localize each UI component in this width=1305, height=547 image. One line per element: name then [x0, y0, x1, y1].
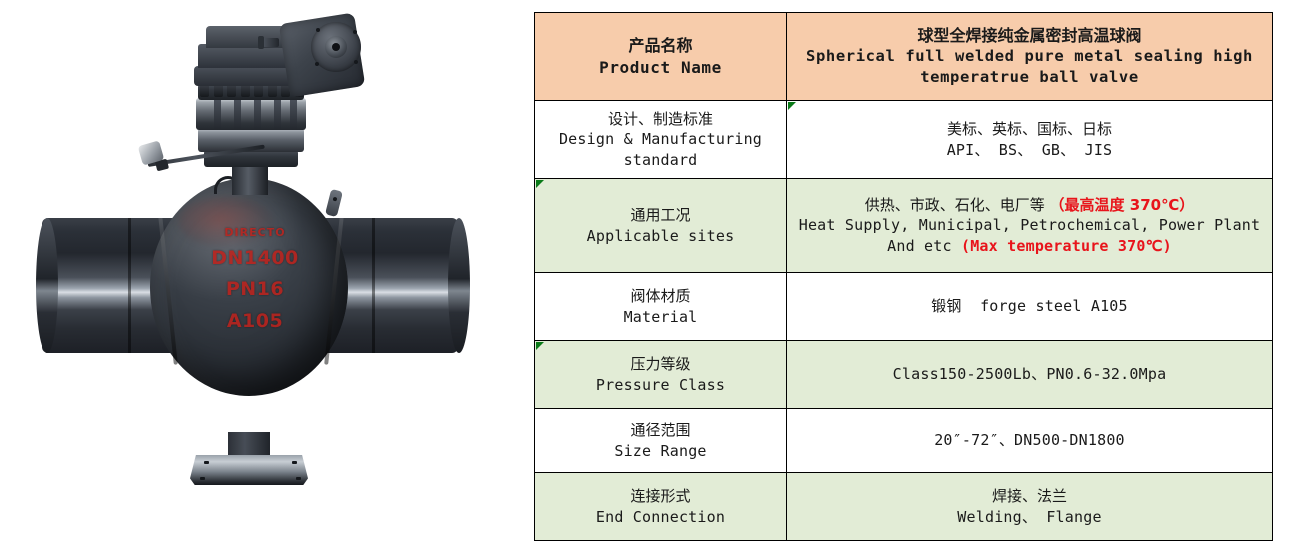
- pipe-cap-left: [36, 218, 58, 353]
- row-label-applicable-sites: 通用工况 Applicable sites: [535, 179, 787, 273]
- row-label-end-connection: 连接形式 End Connection: [535, 473, 787, 541]
- yoke-bar: [234, 100, 241, 130]
- table-row: 压力等级 Pressure Class Class150-2500Lb、PN0.…: [535, 341, 1273, 409]
- value-en-highlight: (Max temperature 370℃): [961, 237, 1172, 255]
- comment-flag-icon: [536, 180, 544, 188]
- value-en-plain: And etc: [887, 237, 961, 255]
- label-en: Pressure Class: [543, 375, 778, 395]
- label-en: Size Range: [543, 441, 778, 461]
- value-en: 20″-72″、DN500-DN1800: [795, 430, 1264, 450]
- label-cn: 通用工况: [543, 205, 778, 225]
- row-value-pressure-class: Class150-2500Lb、PN0.6-32.0Mpa: [787, 341, 1273, 409]
- comment-flag-icon: [536, 342, 544, 350]
- yoke-bar: [274, 100, 281, 130]
- support-base-plate: [190, 455, 308, 485]
- marking-pressure: PN16: [196, 278, 314, 300]
- marking-logo: DIRECTO: [196, 226, 314, 239]
- specification-table: 产品名称 Product Name 球型全焊接纯金属密封高温球阀 Spheric…: [534, 12, 1273, 541]
- lifting-lug-icon: [325, 189, 343, 217]
- marking-size: DN1400: [196, 247, 314, 269]
- row-label-product-name: 产品名称 Product Name: [535, 13, 787, 101]
- base-bolt: [296, 477, 301, 480]
- row-value-material: 锻钢 forge steel A105: [787, 273, 1273, 341]
- value-en-line2: temperatrue ball valve: [795, 67, 1264, 88]
- table-row: 产品名称 Product Name 球型全焊接纯金属密封高温球阀 Spheric…: [535, 13, 1273, 101]
- table-row: 通径范围 Size Range 20″-72″、DN500-DN1800: [535, 409, 1273, 473]
- row-label-design-standard: 设计、制造标准 Design & Manufacturing standard: [535, 101, 787, 179]
- weld-seam-right: [372, 218, 375, 353]
- gearbox-screw: [354, 60, 358, 64]
- label-en-line1: Design & Manufacturing: [543, 129, 778, 149]
- value-en: forge steel A105: [980, 297, 1128, 315]
- label-cn: 连接形式: [543, 486, 778, 506]
- table-row: 通用工况 Applicable sites 供热、市政、石化、电厂等 （最高温度…: [535, 179, 1273, 273]
- row-value-applicable-sites: 供热、市政、石化、电厂等 （最高温度 370℃） Heat Supply, Mu…: [787, 179, 1273, 273]
- value-en: API、 BS、 GB、 JIS: [795, 140, 1264, 160]
- row-value-design-standard: 美标、英标、国标、日标 API、 BS、 GB、 JIS: [787, 101, 1273, 179]
- value-cn: 焊接、法兰: [795, 486, 1264, 506]
- value-en: Class150-2500Lb、PN0.6-32.0Mpa: [795, 364, 1264, 384]
- yoke-bar: [290, 100, 297, 130]
- marking-material: A105: [196, 310, 314, 332]
- stem-neck: [232, 165, 268, 195]
- row-value-product-name: 球型全焊接纯金属密封高温球阀 Spherical full welded pur…: [787, 13, 1273, 101]
- label-cn: 产品名称: [543, 35, 778, 57]
- value-en-line2: And etc (Max temperature 370℃): [795, 236, 1264, 256]
- pipe-cap-right: [448, 218, 470, 353]
- label-en: Product Name: [543, 57, 778, 79]
- value-line: 锻钢 forge steel A105: [795, 296, 1264, 316]
- comment-flag-icon: [788, 102, 796, 110]
- label-en: Applicable sites: [543, 226, 778, 246]
- row-label-material: 阀体材质 Material: [535, 273, 787, 341]
- base-bolt: [200, 477, 205, 480]
- base-bolt: [292, 461, 297, 464]
- label-cn: 阀体材质: [543, 286, 778, 306]
- product-spec-page: DIRECTO DN1400 PN16 A105: [0, 0, 1305, 547]
- gearbox-screw: [316, 28, 320, 32]
- value-cn-line: 供热、市政、石化、电厂等 （最高温度 370℃）: [795, 195, 1264, 215]
- value-en: Welding、 Flange: [795, 507, 1264, 527]
- row-value-end-connection: 焊接、法兰 Welding、 Flange: [787, 473, 1273, 541]
- weld-seam-left: [128, 218, 131, 353]
- label-en-line2: standard: [543, 150, 778, 170]
- value-cn: 锻钢: [931, 297, 961, 315]
- gearbox-screw: [353, 30, 357, 34]
- value-cn: 球型全焊接纯金属密封高温球阀: [795, 25, 1264, 47]
- gearbox-input-stub: [263, 38, 279, 47]
- body-highlight: [178, 196, 274, 248]
- label-en: End Connection: [543, 507, 778, 527]
- table-row: 设计、制造标准 Design & Manufacturing standard …: [535, 101, 1273, 179]
- gearbox-hub: [325, 36, 347, 58]
- specification-table-wrapper: 产品名称 Product Name 球型全焊接纯金属密封高温球阀 Spheric…: [534, 12, 1274, 541]
- row-label-size-range: 通径范围 Size Range: [535, 409, 787, 473]
- table-row: 阀体材质 Material 锻钢 forge steel A105: [535, 273, 1273, 341]
- row-value-size-range: 20″-72″、DN500-DN1800: [787, 409, 1273, 473]
- label-cn: 压力等级: [543, 354, 778, 374]
- base-bolt: [204, 461, 209, 464]
- gearbox-screw: [315, 62, 319, 66]
- value-en-line1: Spherical full welded pure metal sealing…: [795, 46, 1264, 67]
- valve-illustration: DIRECTO DN1400 PN16 A105: [0, 0, 500, 547]
- value-cn-highlight: （最高温度 370℃）: [1050, 196, 1195, 214]
- value-cn-plain: 供热、市政、石化、电厂等: [865, 196, 1050, 214]
- value-en-line1: Heat Supply, Municipal, Petrochemical, P…: [795, 215, 1264, 235]
- table-row: 连接形式 End Connection 焊接、法兰 Welding、 Flang…: [535, 473, 1273, 541]
- label-cn: 通径范围: [543, 420, 778, 440]
- label-cn: 设计、制造标准: [543, 109, 778, 129]
- yoke-bar: [254, 100, 261, 130]
- yoke-bar: [214, 100, 221, 130]
- product-photo: DIRECTO DN1400 PN16 A105: [0, 0, 500, 547]
- row-label-pressure-class: 压力等级 Pressure Class: [535, 341, 787, 409]
- label-en: Material: [543, 307, 778, 327]
- value-cn: 美标、英标、国标、日标: [795, 119, 1264, 139]
